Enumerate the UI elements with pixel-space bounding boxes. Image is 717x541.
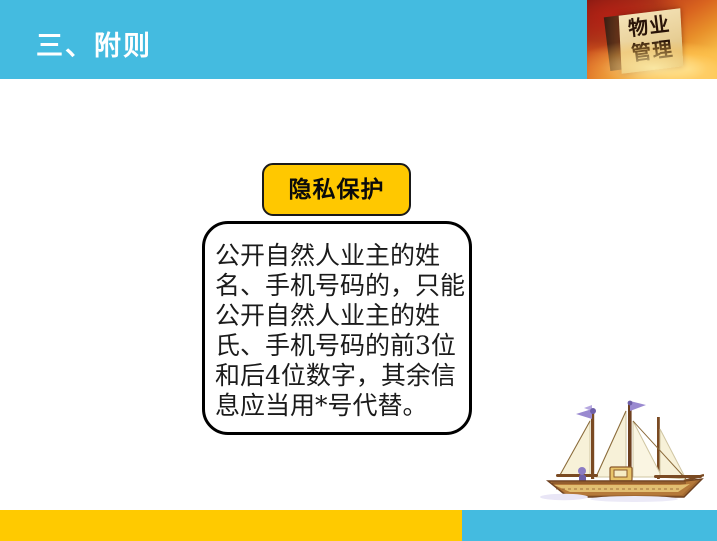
- property-management-book-photo: 物业 管理: [587, 0, 717, 79]
- footer-bar-left: [0, 510, 462, 541]
- page-title: 三、附则: [36, 32, 152, 62]
- privacy-protection-label-text: 隐私保护: [289, 178, 385, 201]
- privacy-protection-label-box: 隐私保护: [262, 163, 411, 216]
- privacy-rule-body-text: 公开自然人业主的姓名、手机号码的，只能公开自然人业主的姓氏、手机号码的前3位和后…: [215, 241, 467, 421]
- slide-canvas: 三、附则 物业 管理 隐私保护 公开自然人业主的姓名、手机号码的，只能公开自然人…: [0, 0, 717, 541]
- sailboat-clipart: [534, 399, 704, 503]
- footer-bar-right: [462, 510, 717, 541]
- privacy-rule-callout-box: 公开自然人业主的姓名、手机号码的，只能公开自然人业主的姓氏、手机号码的前3位和后…: [202, 221, 472, 435]
- photo-glow-overlay: [587, 42, 717, 79]
